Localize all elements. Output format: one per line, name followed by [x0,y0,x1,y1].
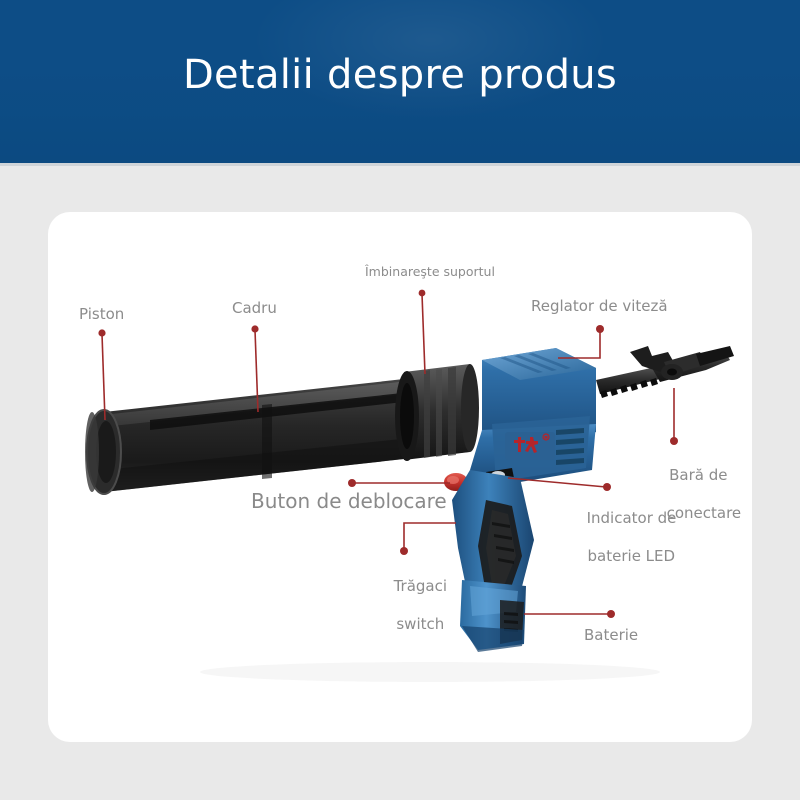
callout-label-connect-rod-line2: conectare [667,504,742,522]
callout-label-release: Buton de deblocare [251,492,447,511]
callout-label-led-line1: Indicator de [587,509,677,527]
callout-label-frame: Cadru [232,299,277,318]
callout-label-holder: Îmbinareşte suportul [365,262,495,281]
callout-label-trigger: Trăgaci switch [360,558,452,653]
product-diagram: Piston Cadru Îmbinareşte suportul Reglat… [0,0,800,800]
callout-label-piston: Piston [79,305,124,324]
callout-label-connect-rod-line1: Bară de [669,466,727,484]
leader-trigger [404,523,456,550]
leader-led [508,478,606,487]
leader-speed [558,330,600,358]
product-detail-page: Detalii despre produs [0,0,800,800]
leader-frame [255,330,258,412]
callout-label-trigger-line2: switch [396,615,444,633]
leader-holder [422,294,425,374]
callout-label-trigger-line1: Trăgaci [394,577,447,595]
callout-leader-lines [0,0,800,800]
callout-label-speed: Reglator de viteză [531,297,668,316]
callout-label-led: Indicator de baterie LED [558,490,676,585]
leader-piston [102,334,105,420]
callout-label-led-line2: baterie LED [588,547,676,565]
callout-label-battery: Baterie [584,626,638,645]
